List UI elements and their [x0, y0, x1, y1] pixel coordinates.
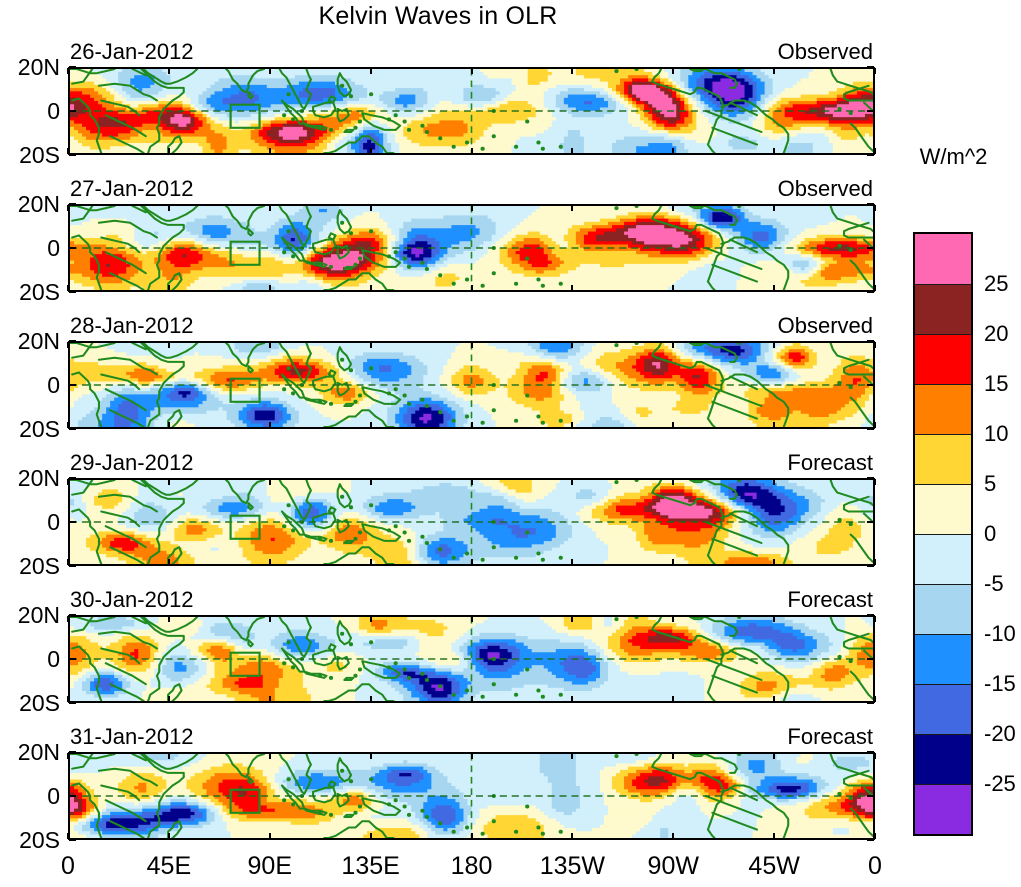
y-axis-tick [867, 839, 874, 841]
colorbar-band [915, 334, 971, 384]
panel-frame [68, 478, 875, 566]
x-axis-tick [672, 479, 674, 485]
map-panel[interactable] [68, 615, 875, 703]
olr-anomaly-field [70, 69, 873, 153]
y-axis-tick [69, 340, 76, 342]
x-axis-tick [168, 696, 170, 702]
x-axis-tick [874, 833, 876, 839]
y-axis-tick-label: 0 [47, 100, 60, 123]
x-axis-tick [672, 616, 674, 622]
x-axis-tick [269, 479, 271, 485]
y-axis-tick [69, 110, 76, 112]
colorbar-band [915, 584, 971, 634]
y-axis-tick-label: 20S [19, 692, 60, 715]
colorbar-band [915, 734, 971, 784]
colorbar-band [915, 384, 971, 434]
x-axis-tick [471, 68, 473, 74]
x-axis-tick [67, 616, 69, 622]
y-axis-tick [867, 247, 874, 249]
x-axis-tick [269, 422, 271, 428]
y-axis-tick [867, 614, 874, 616]
y-axis-tick [867, 477, 874, 479]
x-axis-tick [67, 205, 69, 211]
x-axis-tick [269, 616, 271, 622]
colorbar-band [915, 434, 971, 484]
panel-date-label: 26-Jan-2012 [70, 41, 194, 63]
x-axis-tick [168, 833, 170, 839]
y-axis-tick [867, 795, 874, 797]
x-axis-tick [67, 479, 69, 485]
x-axis-tick [370, 205, 372, 211]
y-axis-tick [69, 521, 76, 523]
x-axis-tick [672, 833, 674, 839]
y-axis-tick-label: 20N [18, 741, 60, 764]
y-axis-tick-label: 20N [18, 330, 60, 353]
map-panel[interactable] [68, 752, 875, 840]
y-axis-tick [867, 384, 874, 386]
x-axis-tick [370, 753, 372, 759]
x-axis-tick-label: 45W [748, 854, 799, 879]
x-axis-tick [571, 285, 573, 291]
panel-kind-label: Forecast [735, 589, 873, 611]
x-axis-tick [370, 696, 372, 702]
y-axis-tick [867, 428, 874, 430]
x-axis-tick [874, 479, 876, 485]
x-axis-tick [67, 68, 69, 74]
panel-date-label: 27-Jan-2012 [70, 178, 194, 200]
y-axis-tick [69, 795, 76, 797]
x-axis-tick [672, 422, 674, 428]
y-axis-tick [867, 702, 874, 704]
x-axis-tick [874, 148, 876, 154]
x-axis-tick [370, 616, 372, 622]
y-axis-tick [69, 203, 76, 205]
x-axis-tick [168, 479, 170, 485]
x-axis-tick [672, 753, 674, 759]
x-axis-tick [67, 753, 69, 759]
x-axis-tick [370, 68, 372, 74]
x-axis-tick [471, 833, 473, 839]
y-axis-tick [867, 340, 874, 342]
x-axis-tick [672, 285, 674, 291]
x-axis-tick [773, 68, 775, 74]
x-axis-tick [773, 696, 775, 702]
panel-frame [68, 752, 875, 840]
olr-anomaly-field [70, 754, 873, 838]
x-axis-tick [269, 342, 271, 348]
y-axis-tick [69, 291, 76, 293]
map-panel[interactable] [68, 67, 875, 155]
y-axis-tick-label: 20N [18, 193, 60, 216]
x-axis-tick [571, 616, 573, 622]
olr-anomaly-field [70, 480, 873, 564]
y-axis-tick-label: 20S [19, 418, 60, 441]
x-axis-tick [874, 559, 876, 565]
x-axis-tick [672, 68, 674, 74]
colorbar-band [915, 634, 971, 684]
x-axis-tick-label: 0 [868, 854, 882, 879]
y-axis-tick [69, 477, 76, 479]
x-axis-tick [269, 285, 271, 291]
colorbar-label: W/m^2 [886, 146, 1021, 168]
x-axis-tick [168, 559, 170, 565]
x-axis-tick [370, 342, 372, 348]
y-axis-tick-label: 20N [18, 467, 60, 490]
colorbar-band [915, 284, 971, 334]
x-axis-tick [571, 559, 573, 565]
x-axis-tick [471, 148, 473, 154]
x-axis-tick [471, 559, 473, 565]
x-axis-tick [168, 68, 170, 74]
x-axis-tick [773, 205, 775, 211]
colorbar-tick-label: 10 [984, 423, 1008, 445]
y-axis-tick [69, 751, 76, 753]
x-axis-tick [571, 753, 573, 759]
x-axis-tick [571, 342, 573, 348]
x-axis-tick [168, 285, 170, 291]
x-axis-tick [672, 696, 674, 702]
x-axis-tick [672, 205, 674, 211]
map-panel[interactable] [68, 204, 875, 292]
y-axis-tick-label: 0 [47, 648, 60, 671]
x-axis-tick [571, 68, 573, 74]
panel-frame [68, 341, 875, 429]
y-axis-tick [69, 565, 76, 567]
x-axis-tick [269, 205, 271, 211]
y-axis-tick [867, 565, 874, 567]
x-axis-tick [168, 616, 170, 622]
x-axis-tick [269, 833, 271, 839]
x-axis-tick [269, 148, 271, 154]
y-axis-tick [867, 154, 874, 156]
colorbar-tick-label: 25 [984, 273, 1008, 295]
x-axis-tick [773, 833, 775, 839]
colorbar-tick-label: -15 [984, 673, 1016, 695]
colorbar-tick-label: 5 [984, 473, 996, 495]
colorbar-band [915, 784, 971, 834]
x-axis-tick [773, 616, 775, 622]
panel-date-label: 31-Jan-2012 [70, 726, 194, 748]
x-axis-tick [874, 753, 876, 759]
x-axis-tick [471, 616, 473, 622]
panel-kind-label: Observed [735, 315, 873, 337]
x-axis-tick [571, 148, 573, 154]
x-axis-tick [874, 205, 876, 211]
y-axis-tick-label: 20S [19, 144, 60, 167]
panel-frame [68, 615, 875, 703]
x-axis-tick-label: 90W [648, 854, 699, 879]
x-axis-tick [370, 833, 372, 839]
x-axis-tick [471, 422, 473, 428]
y-axis-tick-label: 0 [47, 374, 60, 397]
x-axis-tick [168, 422, 170, 428]
panel-frame [68, 67, 875, 155]
x-axis-labels: 045E90E135E180135W90W45W0 [0, 850, 1021, 884]
x-axis-tick-label: 45E [147, 854, 191, 879]
x-axis-tick [874, 616, 876, 622]
x-axis-tick [773, 559, 775, 565]
x-axis-tick [571, 422, 573, 428]
colorbar-tick-label: -10 [984, 623, 1016, 645]
x-axis-tick [773, 753, 775, 759]
x-axis-tick [471, 285, 473, 291]
x-axis-tick [773, 479, 775, 485]
colorbar-band [915, 684, 971, 734]
x-axis-tick [269, 68, 271, 74]
y-axis-tick [69, 428, 76, 430]
olr-anomaly-field [70, 206, 873, 290]
y-axis-tick-label: 20N [18, 604, 60, 627]
x-axis-tick [874, 422, 876, 428]
y-axis-tick [867, 291, 874, 293]
panel-frame [68, 204, 875, 292]
panel-date-label: 29-Jan-2012 [70, 452, 194, 474]
x-axis-tick [168, 753, 170, 759]
x-axis-tick [571, 479, 573, 485]
x-axis-tick [370, 422, 372, 428]
x-axis-tick [874, 285, 876, 291]
x-axis-tick [571, 696, 573, 702]
y-axis-tick-label: 20S [19, 829, 60, 852]
y-axis-tick [69, 66, 76, 68]
colorbar-tick-label: 0 [984, 523, 996, 545]
panel-kind-label: Forecast [735, 452, 873, 474]
colorbar-band [915, 484, 971, 534]
x-axis-tick [471, 205, 473, 211]
colorbar-tick-label: 20 [984, 323, 1008, 345]
y-axis-tick-label: 0 [47, 785, 60, 808]
x-axis-tick-label: 90E [248, 854, 292, 879]
colorbar-band [915, 534, 971, 584]
panel-date-label: 28-Jan-2012 [70, 315, 194, 337]
y-axis-tick-label: 0 [47, 237, 60, 260]
y-axis-tick [867, 521, 874, 523]
x-axis-tick [370, 479, 372, 485]
x-axis-tick-label: 0 [61, 854, 75, 879]
map-panel[interactable] [68, 478, 875, 566]
y-axis-tick [69, 658, 76, 660]
colorbar[interactable] [913, 232, 973, 836]
y-axis-tick-label: 20S [19, 555, 60, 578]
x-axis-tick [269, 696, 271, 702]
y-axis-tick [867, 110, 874, 112]
x-axis-tick [672, 342, 674, 348]
y-axis-tick [69, 247, 76, 249]
x-axis-tick [370, 559, 372, 565]
x-axis-tick [773, 422, 775, 428]
y-axis-tick [69, 154, 76, 156]
y-axis-tick [867, 66, 874, 68]
x-axis-tick [571, 205, 573, 211]
x-axis-tick [571, 833, 573, 839]
x-axis-tick [370, 148, 372, 154]
olr-anomaly-field [70, 617, 873, 701]
y-axis-tick [69, 702, 76, 704]
y-axis-tick [69, 614, 76, 616]
panel-kind-label: Observed [735, 178, 873, 200]
x-axis-tick [67, 342, 69, 348]
x-axis-tick [471, 342, 473, 348]
x-axis-tick [471, 479, 473, 485]
y-axis-tick-label: 20S [19, 281, 60, 304]
x-axis-tick [672, 148, 674, 154]
y-axis-tick [867, 203, 874, 205]
colorbar-tick-label: -25 [984, 773, 1016, 795]
page-title: Kelvin Waves in OLR [0, 2, 876, 31]
panel-kind-label: Observed [735, 41, 873, 63]
colorbar-tick-label: -5 [984, 573, 1004, 595]
y-axis-tick-label: 0 [47, 511, 60, 534]
x-axis-tick [874, 342, 876, 348]
x-axis-tick-label: 180 [451, 854, 493, 879]
y-axis-tick [69, 384, 76, 386]
y-axis-tick [867, 751, 874, 753]
x-axis-tick [874, 696, 876, 702]
x-axis-tick [168, 205, 170, 211]
y-axis-tick [69, 839, 76, 841]
map-panel[interactable] [68, 341, 875, 429]
x-axis-tick [471, 696, 473, 702]
panel-kind-label: Forecast [735, 726, 873, 748]
x-axis-tick-label: 135W [540, 854, 605, 879]
y-axis-tick [867, 658, 874, 660]
colorbar-band [915, 234, 971, 284]
x-axis-tick [773, 285, 775, 291]
x-axis-tick [874, 68, 876, 74]
x-axis-tick [168, 342, 170, 348]
colorbar-tick-label: 15 [984, 373, 1008, 395]
x-axis-tick-label: 135E [341, 854, 399, 879]
x-axis-tick [471, 753, 473, 759]
colorbar-tick-label: -20 [984, 723, 1016, 745]
x-axis-tick [773, 342, 775, 348]
x-axis-tick [773, 148, 775, 154]
x-axis-tick [269, 559, 271, 565]
olr-anomaly-field [70, 343, 873, 427]
x-axis-tick [672, 559, 674, 565]
x-axis-tick [168, 148, 170, 154]
y-axis-tick-label: 20N [18, 56, 60, 79]
x-axis-tick [370, 285, 372, 291]
x-axis-tick [269, 753, 271, 759]
panel-date-label: 30-Jan-2012 [70, 589, 194, 611]
